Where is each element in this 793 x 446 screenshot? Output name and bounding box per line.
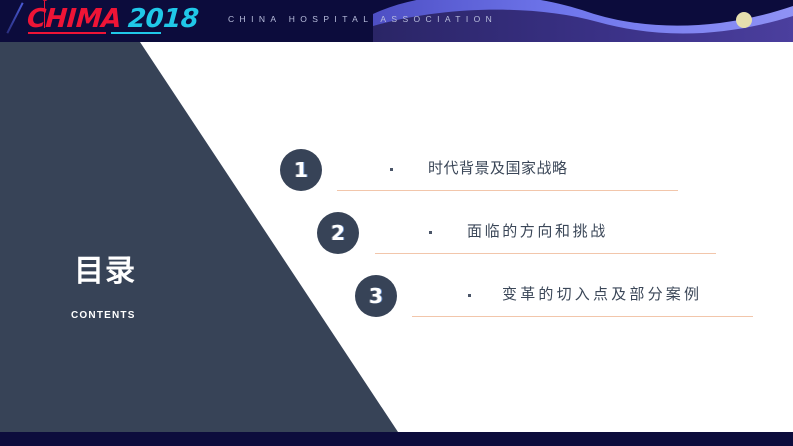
chima-logo: CHIMA 2018 [27,6,198,32]
toc-number-badge-1: 1 [280,149,322,191]
presentation-slide: CHIMA 2018 CHINA HOSPITAL ASSOCIATION 目录… [0,0,793,446]
toc-item-label-3[interactable]: 变革的切入点及部分案例 [502,283,702,304]
slash-decoration-icon [6,2,23,33]
page-subtitle: CONTENTS [71,310,136,321]
logo-main-text: CHIMA [26,6,122,32]
toc-item-3[interactable]: 3 变革的切入点及部分案例 [355,275,755,335]
bullet-icon [468,294,471,297]
slide-body: 目录 CONTENTS 1 时代背景及国家战略 2 面临的方向和挑战 3 变革的… [0,42,793,432]
bullet-icon [390,168,393,171]
logo-main-underline [28,32,106,34]
toc-item-1[interactable]: 1 时代背景及国家战略 [280,149,680,209]
toc-item-2[interactable]: 2 面临的方向和挑战 [317,212,717,272]
toc-number-badge-3: 3 [355,275,397,317]
slide-header: CHIMA 2018 CHINA HOSPITAL ASSOCIATION [0,0,793,42]
slide-footer [0,432,793,446]
circle-decoration-icon [736,12,752,28]
logo-year-underline [111,32,161,34]
logo-pin-stem-icon [44,1,45,28]
bullet-icon [429,231,432,234]
logo-year-text: 2018 [127,6,199,32]
toc-item-label-2[interactable]: 面临的方向和挑战 [467,220,608,241]
toc-number-badge-2: 2 [317,212,359,254]
page-title: 目录 [74,246,136,290]
toc-item-rule-1 [337,190,678,191]
toc-item-rule-3 [412,316,753,317]
toc-item-rule-2 [375,253,716,254]
header-subtitle: CHINA HOSPITAL ASSOCIATION [228,14,497,24]
logo-pin-icon [42,0,48,1]
toc-item-label-1[interactable]: 时代背景及国家战略 [428,157,568,178]
